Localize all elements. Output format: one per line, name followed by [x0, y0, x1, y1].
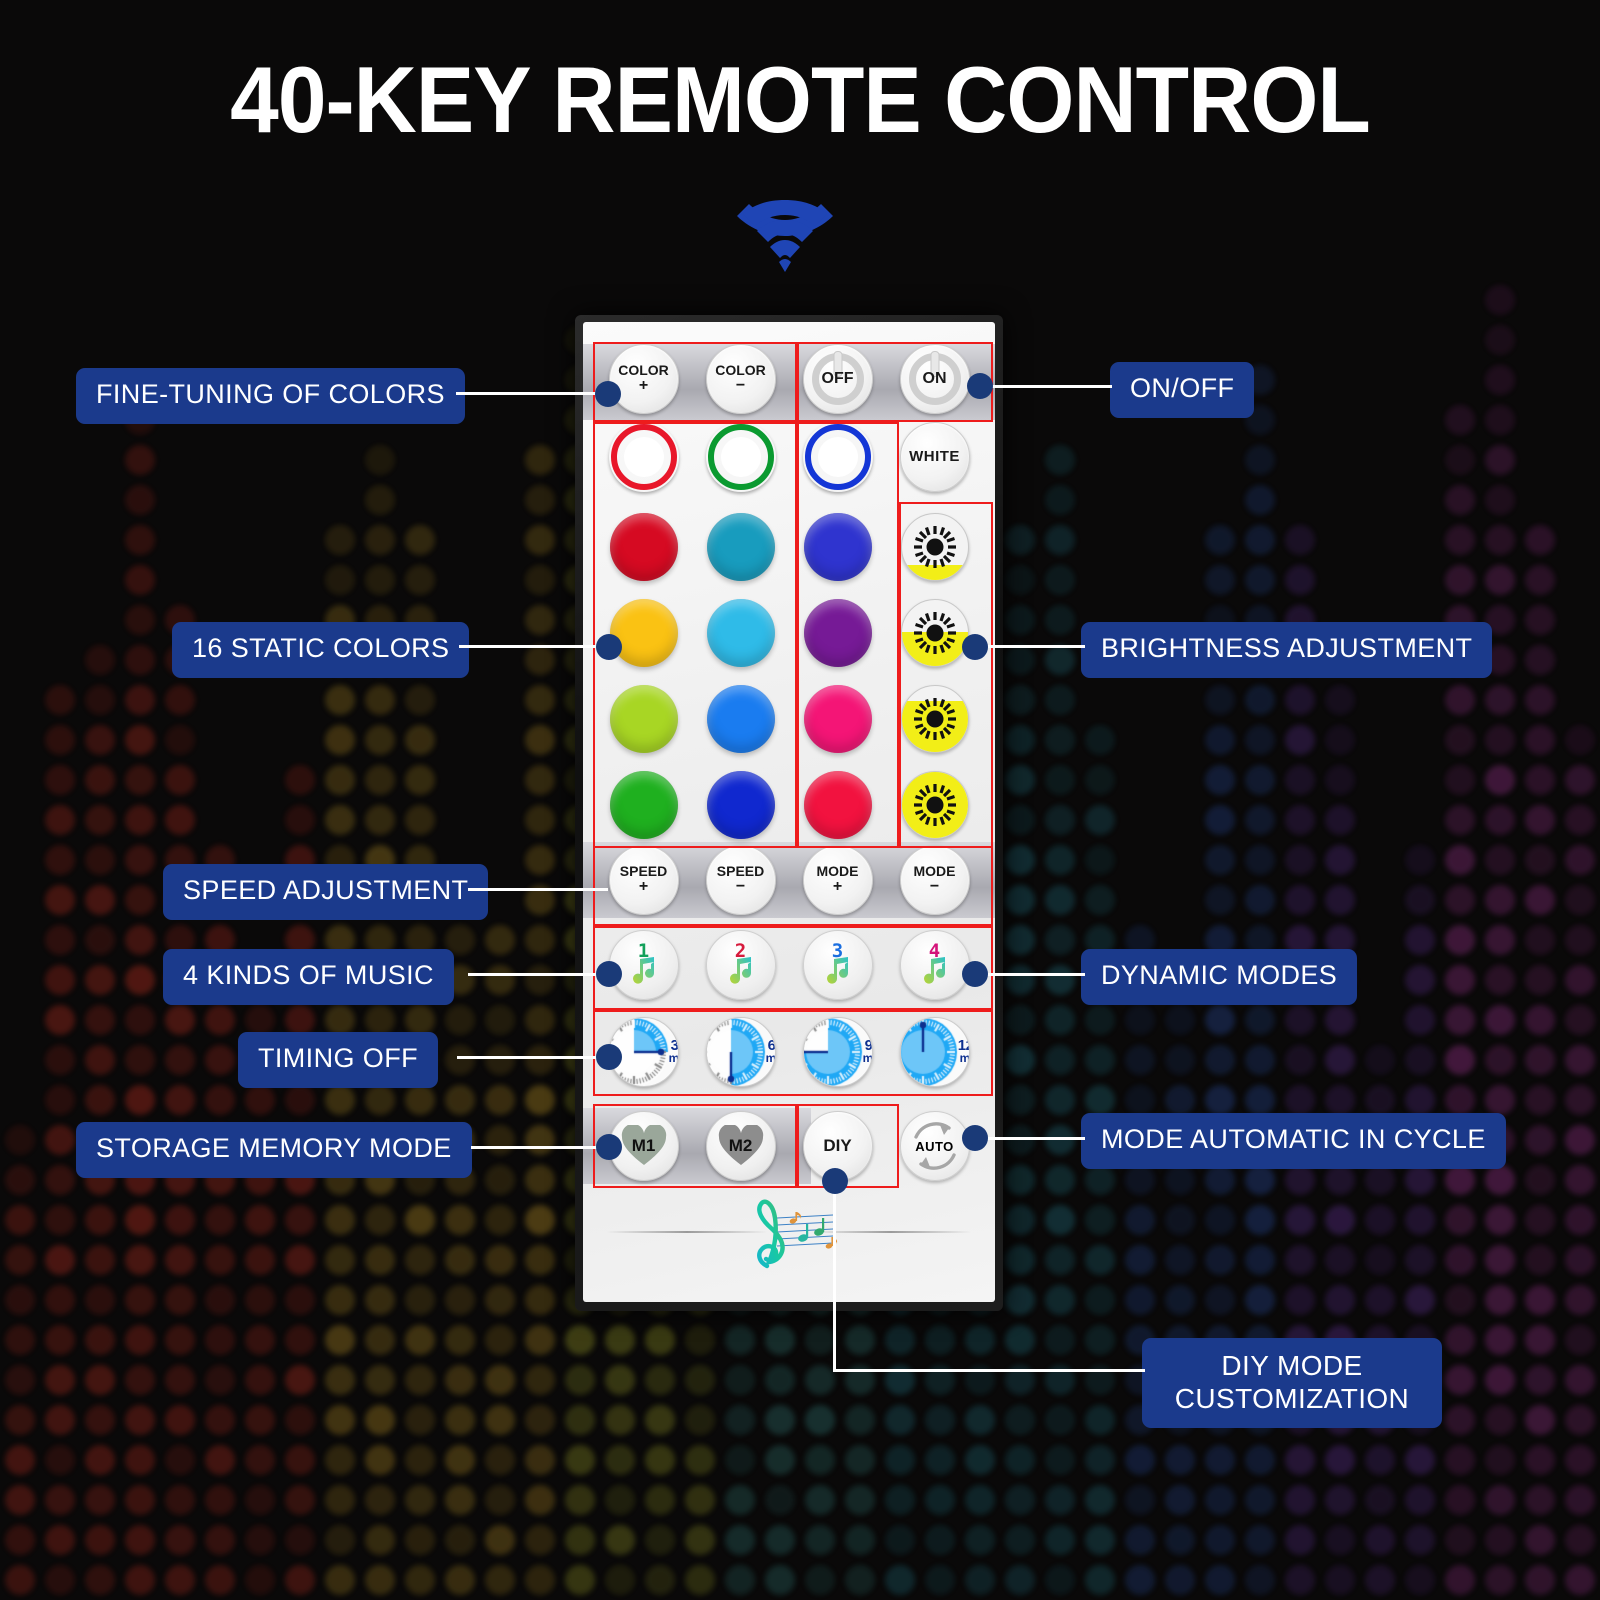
key-power-off[interactable]: OFF: [789, 344, 886, 414]
power-off-icon: OFF: [803, 344, 873, 414]
key-label: MODE: [817, 864, 859, 879]
key-color-swatch[interactable]: [692, 676, 789, 762]
brightness-icon: [901, 513, 969, 581]
key-green[interactable]: G: [692, 422, 789, 492]
key-sub-label: +: [639, 879, 648, 896]
timer-dial-icon: 60min: [706, 1017, 776, 1087]
brightness-icon: [901, 599, 969, 667]
key-label: COLOR: [715, 363, 766, 378]
key-music-mode-3[interactable]: 3: [789, 926, 886, 1004]
music-mode-number: 4: [929, 940, 940, 962]
music-note-icon: 4: [900, 930, 970, 1000]
timer-unit: min: [766, 1053, 776, 1064]
remote-faceplate: COLOR + COLOR − OFF: [583, 322, 995, 1302]
timer-dial-icon: 120min: [900, 1017, 970, 1087]
music-clef-logo: [583, 1186, 995, 1276]
key-color-swatch[interactable]: [692, 762, 789, 848]
key-blue[interactable]: B: [789, 422, 886, 492]
key-memory-m2[interactable]: M2: [692, 1108, 789, 1184]
color-magenta: [804, 685, 872, 753]
key-label: DIY: [823, 1137, 851, 1155]
key-brightness-level-1[interactable]: [886, 504, 983, 590]
key-color-swatch[interactable]: [692, 590, 789, 676]
key-label: SPEED: [620, 864, 667, 879]
color-yellow-green: [610, 685, 678, 753]
key-color-swatch[interactable]: [692, 504, 789, 590]
timer-dial-icon: 90min: [803, 1017, 873, 1087]
key-brightness-level-3[interactable]: [886, 676, 983, 762]
callout-on-off[interactable]: ON/OFF: [1110, 362, 1254, 418]
leader-node-mode-automatic: [962, 1125, 988, 1151]
power-on-icon: ON: [900, 344, 970, 414]
color-dodger-blue: [707, 685, 775, 753]
color-blue: [707, 771, 775, 839]
color-indigo-blue: [804, 513, 872, 581]
color-crimson: [610, 513, 678, 581]
sun-icon: [911, 695, 959, 743]
leader-node-on-off: [967, 373, 993, 399]
color-purple: [804, 599, 872, 667]
key-white[interactable]: WHITE: [886, 422, 983, 492]
leader-node-fine-tuning: [595, 381, 621, 407]
leader-line-dynamic-modes: [975, 973, 1085, 976]
key-timer-120[interactable]: 120min: [886, 1012, 983, 1092]
remote-control-device: COLOR + COLOR − OFF: [575, 315, 1003, 1311]
key-timer-60[interactable]: 60min: [692, 1012, 789, 1092]
music-mode-number: 2: [735, 940, 746, 962]
key-color-swatch[interactable]: [595, 676, 692, 762]
leader-node-brightness: [962, 634, 988, 660]
callout-fine-tuning-of-colors[interactable]: FINE-TUNING OF COLORS: [76, 368, 465, 424]
blue-ring-icon: B: [803, 422, 873, 492]
color-golden-yellow: [610, 599, 678, 667]
brightness-icon: [901, 771, 969, 839]
music-note-icon: 2: [706, 930, 776, 1000]
key-brightness-level-4[interactable]: [886, 762, 983, 848]
leader-node-dynamic-modes: [962, 961, 988, 987]
sun-icon: [911, 781, 959, 829]
key-label: SPEED: [717, 864, 764, 879]
key-sub-label: +: [639, 378, 648, 395]
color-cyan: [707, 599, 775, 667]
key-label: OFF: [822, 371, 854, 388]
callout-16-static-colors[interactable]: 16 STATIC COLORS: [172, 622, 469, 678]
key-color-swatch[interactable]: [595, 762, 692, 848]
color-red-pink: [804, 771, 872, 839]
key-speed-plus[interactable]: SPEED+: [595, 842, 692, 918]
callout-speed-adjustment[interactable]: SPEED ADJUSTMENT: [163, 864, 488, 920]
callout-brightness-adjustment[interactable]: BRIGHTNESS ADJUSTMENT: [1081, 622, 1492, 678]
key-sub-label: +: [833, 879, 842, 896]
key-speed-minus[interactable]: SPEED−: [692, 842, 789, 918]
key-label: COLOR: [618, 363, 669, 378]
leader-line-on-off: [980, 385, 1112, 388]
callout-storage-memory-mode[interactable]: STORAGE MEMORY MODE: [76, 1122, 472, 1178]
brightness-icon: [901, 685, 969, 753]
callout-dynamic-modes[interactable]: DYNAMIC MODES: [1081, 949, 1357, 1005]
leader-line-diy-vertical: [833, 1190, 836, 1372]
leader-line-fine-tuning: [456, 392, 606, 395]
leader-line-music: [468, 973, 606, 976]
timer-unit: min: [669, 1053, 679, 1064]
color-teal: [707, 513, 775, 581]
callout-diy-line2: CUSTOMIZATION: [1162, 1382, 1422, 1415]
leader-node-music: [596, 961, 622, 987]
key-color-swatch[interactable]: [789, 762, 886, 848]
leader-line-speed: [468, 888, 608, 891]
key-sub-label: −: [736, 378, 745, 395]
key-color-minus[interactable]: COLOR −: [692, 344, 789, 414]
key-label: AUTO: [915, 1139, 954, 1154]
callout-diy-mode-customization[interactable]: DIY MODE CUSTOMIZATION: [1142, 1338, 1442, 1428]
key-mode-plus[interactable]: MODE+: [789, 842, 886, 918]
red-ring-icon: R: [609, 422, 679, 492]
key-sub-label: −: [930, 879, 939, 896]
leader-line-storage-memory: [471, 1146, 607, 1149]
sun-icon: [911, 609, 959, 657]
sun-icon: [911, 523, 959, 571]
leader-node-static-colors: [596, 634, 622, 660]
wifi-signal-icon: [735, 200, 835, 285]
key-color-swatch[interactable]: [789, 504, 886, 590]
key-color-swatch[interactable]: [595, 504, 692, 590]
key-music-mode-2[interactable]: 2: [692, 926, 789, 1004]
leader-line-diy-horizontal: [833, 1369, 1145, 1372]
key-label: MODE: [914, 864, 956, 879]
key-timer-90[interactable]: 90min: [789, 1012, 886, 1092]
key-color-swatch[interactable]: [595, 590, 692, 676]
leader-node-storage-memory: [596, 1134, 622, 1160]
key-label: M2: [729, 1136, 753, 1156]
callout-4-kinds-of-music[interactable]: 4 KINDS OF MUSIC: [163, 949, 454, 1005]
key-brightness-level-2[interactable]: [886, 590, 983, 676]
callout-timing-off[interactable]: TIMING OFF: [238, 1032, 438, 1088]
key-sub-label: −: [736, 879, 745, 896]
leader-node-diy: [822, 1168, 848, 1194]
key-label: M1: [632, 1136, 656, 1156]
callout-diy-line1: DIY MODE: [1162, 1349, 1422, 1382]
key-mode-minus[interactable]: MODE−: [886, 842, 983, 918]
key-label: ON: [923, 371, 947, 388]
leader-line-static-colors: [459, 645, 606, 648]
key-color-swatch[interactable]: [789, 590, 886, 676]
music-note-icon: 3: [803, 930, 873, 1000]
color-green: [610, 771, 678, 839]
key-color-swatch[interactable]: [789, 676, 886, 762]
timer-unit: min: [958, 1053, 970, 1064]
leader-node-timing-off: [596, 1044, 622, 1070]
leader-line-timing-off: [457, 1056, 607, 1059]
callout-mode-automatic-in-cycle[interactable]: MODE AUTOMATIC IN CYCLE: [1081, 1113, 1506, 1169]
music-mode-number: 3: [832, 940, 843, 962]
music-mode-number: 1: [638, 940, 649, 962]
page-title: 40-KEY REMOTE CONTROL: [56, 46, 1544, 154]
leader-line-mode-automatic: [975, 1137, 1085, 1140]
timer-unit: min: [863, 1053, 873, 1064]
key-red[interactable]: R: [595, 422, 692, 492]
key-label: WHITE: [909, 449, 960, 465]
green-ring-icon: G: [706, 422, 776, 492]
leader-line-brightness: [975, 645, 1085, 648]
